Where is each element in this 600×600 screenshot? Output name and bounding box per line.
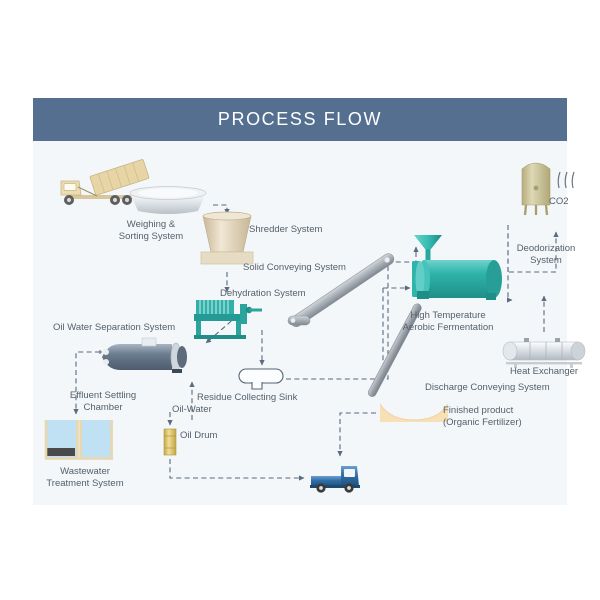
oil-water-separator-icon bbox=[98, 338, 194, 376]
label-finished-product: Finished product (Organic Fertilizer) bbox=[443, 405, 559, 429]
fertilizer-pile-icon bbox=[378, 402, 450, 424]
label-weighing: Weighing & Sorting System bbox=[108, 219, 194, 243]
label-oil-water: Oil-Water bbox=[172, 404, 242, 416]
label-shredder: Shredder System bbox=[249, 224, 349, 236]
fermentation-vessel-icon bbox=[412, 233, 507, 306]
wastewater-tanks-icon bbox=[44, 418, 114, 460]
label-discharge-conveying: Discharge Conveying System bbox=[425, 382, 575, 394]
arrow-drum-to-delivery bbox=[170, 459, 304, 478]
label-oil-water-separation: Oil Water Separation System bbox=[53, 322, 213, 334]
label-effluent-chamber: Effluent Settling Chamber bbox=[57, 390, 149, 414]
label-solid-conveying: Solid Conveying System bbox=[243, 262, 373, 274]
label-dehydration: Dehydration System bbox=[220, 288, 340, 300]
label-heat-exchanger: Heat Exchanger bbox=[500, 366, 588, 378]
label-co2: CO2 bbox=[549, 196, 579, 208]
label-fermentation: High Temperature Aerobic Fermentation bbox=[392, 310, 504, 334]
diagram-canvas: PROCESS FLOW bbox=[0, 0, 600, 600]
filter-press-icon bbox=[192, 296, 264, 341]
heat-exchanger-icon bbox=[500, 336, 588, 368]
shredder-icon bbox=[196, 208, 258, 270]
gas-waves-icon bbox=[556, 168, 582, 194]
label-wastewater: Wastewater Treatment System bbox=[33, 466, 137, 490]
oil-drum-icon bbox=[163, 428, 177, 456]
deodorization-tank-icon bbox=[518, 157, 554, 219]
collecting-sink-icon bbox=[238, 368, 284, 392]
label-oil-drum: Oil Drum bbox=[180, 430, 240, 442]
arrow-finished-to-delivery bbox=[340, 413, 376, 456]
label-residue-sink: Residue Collecting Sink bbox=[197, 392, 327, 404]
label-deodorization: Deodorization System bbox=[500, 243, 592, 267]
delivery-truck-icon bbox=[309, 462, 365, 494]
